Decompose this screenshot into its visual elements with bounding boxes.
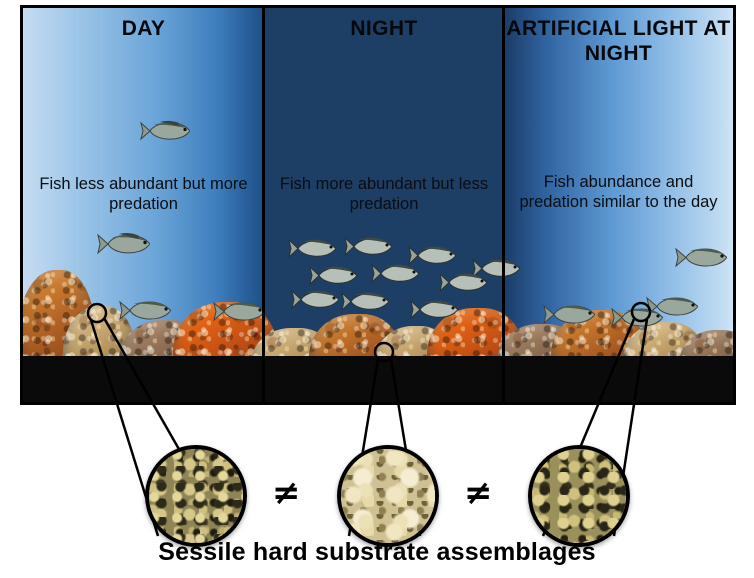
fish — [288, 236, 342, 261]
fish — [371, 261, 425, 286]
substrate-texture — [532, 449, 626, 543]
fish — [341, 289, 395, 314]
substrate-texture — [341, 449, 435, 543]
fish — [410, 297, 464, 322]
fish — [439, 270, 493, 295]
fish — [119, 297, 177, 324]
fish — [344, 234, 398, 259]
figure-caption: Sessile hard substrate assemblages — [0, 538, 754, 567]
figure-root: DAY Fish less abundant but more predatio… — [0, 0, 754, 578]
fish — [543, 301, 601, 328]
panel-divider-2 — [502, 8, 505, 402]
reef-shadow-base — [23, 356, 733, 402]
panel-title-night: NIGHT — [264, 17, 504, 42]
substrate-inset-artificial-light — [528, 445, 630, 547]
fish — [309, 263, 363, 288]
underwater-scene: DAY Fish less abundant but more predatio… — [20, 5, 736, 405]
panel-title-day: DAY — [23, 17, 264, 42]
substrate-texture — [149, 449, 243, 543]
fish — [291, 287, 345, 312]
panel-caption-night: Fish more abundant but less predation — [268, 174, 500, 214]
panel-caption-day: Fish less abundant but more predation — [27, 174, 260, 214]
panel-caption-artificial-light-at-night: Fish abundance and predation similar to … — [508, 172, 729, 212]
substrate-inset-day — [145, 445, 247, 547]
fish — [97, 230, 157, 258]
panel-divider-1 — [262, 8, 265, 402]
not-equal-symbol-1: ≠ — [272, 476, 301, 510]
not-equal-symbol-2: ≠ — [464, 476, 493, 510]
fish — [611, 304, 669, 331]
substrate-inset-night — [337, 445, 439, 547]
fish — [675, 244, 733, 271]
fish — [140, 118, 196, 144]
panel-title-artificial-light-at-night: ARTIFICIAL LIGHT AT NIGHT — [504, 17, 733, 67]
